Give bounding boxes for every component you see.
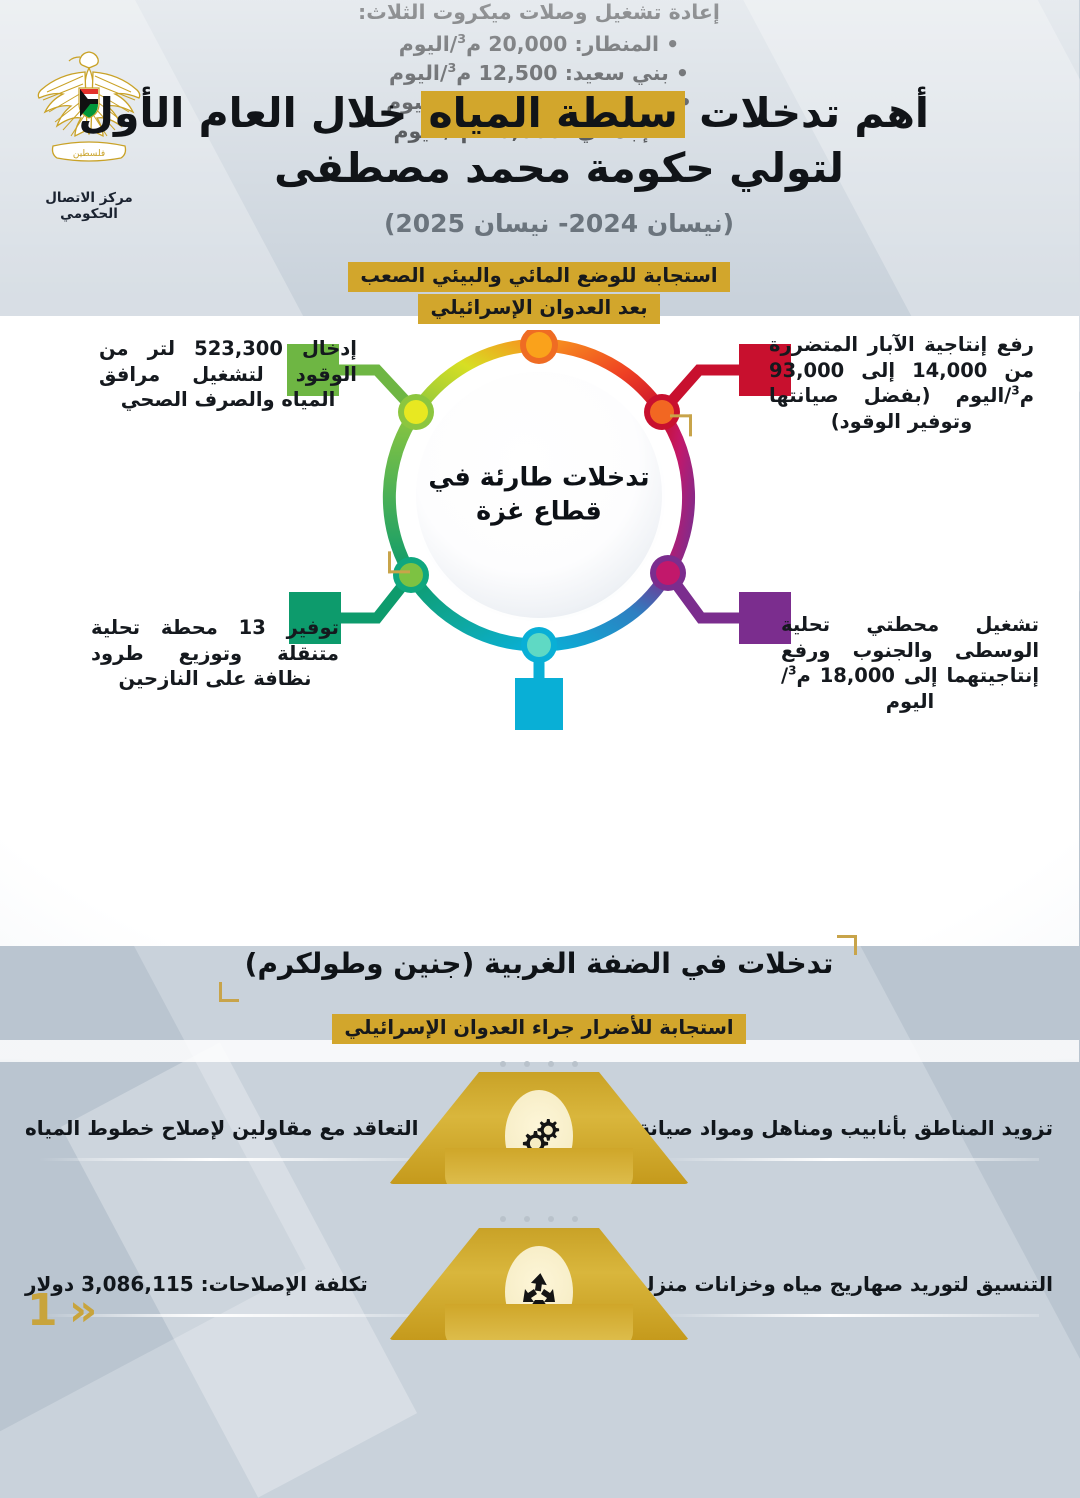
bracket-bottom-left-icon <box>389 552 411 574</box>
row1-left-label: التعاقد مع مقاولين لإصلاح خطوط المياه <box>26 1116 420 1140</box>
title-line-2: لتولي حكومة محمد مصطفى <box>190 141 930 196</box>
gaza-section-banner: استجابة للوضع المائي والبيئي الصعب بعد ا… <box>0 261 1080 325</box>
westbank-banner-text: استجابة للأضرار جراء العدوان الإسرائيلي <box>333 1014 746 1044</box>
callout-wells: رفع إنتاجية الآبار المتضررة من 14,000 إل… <box>770 332 1035 435</box>
svg-text:فلسطين: فلسطين <box>74 149 106 159</box>
title-post: خلال العام الأول <box>79 89 408 137</box>
westbank-row-1: تزويد المناطق بأنابيب ومناهل ومواد صيانة… <box>0 1072 1080 1194</box>
separator-dots <box>0 1208 1080 1227</box>
row1-right-label: تزويد المناطق بأنابيب ومناهل ومواد صيانة <box>639 1116 1054 1140</box>
bracket-bottom-left-icon <box>220 982 240 1002</box>
gaza-banner-line-2: بعد العدوان الإسرائيلي <box>419 294 660 324</box>
title-highlight: سلطة المياه <box>422 91 685 138</box>
row2-trapezoid <box>390 1228 690 1340</box>
callout-mobile-desal: توفير 13 محطة تحلية متنقلة وتوزيع طرود ن… <box>92 615 340 692</box>
westbank-section-banner: استجابة للأضرار جراء العدوان الإسرائيلي <box>0 1013 1080 1045</box>
row1-trapezoid <box>390 1072 690 1184</box>
date-range-subtitle: (نيسان 2024- نيسان 2025) <box>190 209 930 238</box>
center-line-2: قطاع غزة <box>425 495 655 529</box>
separator-dots <box>0 1053 1080 1072</box>
bracket-top-right-icon <box>671 414 693 436</box>
row2-right-label: التنسيق لتوريد صهاريج مياه وخزانات منزلي… <box>628 1272 1054 1296</box>
page-number: 1 » <box>28 1285 96 1336</box>
header: فلسطين مركز الاتصال الحكومي أهم تدخلات س… <box>0 0 1080 258</box>
callout-fuel: إدخال 523,300 لتر من الوقود لتشغيل مرافق… <box>100 336 358 413</box>
logo-caption: مركز الاتصال الحكومي <box>24 190 156 222</box>
page-title: أهم تدخلات سلطة المياه خلال العام الأول … <box>190 86 930 238</box>
bracket-top-right-icon <box>838 935 858 955</box>
westbank-heading-text: تدخلات في الضفة الغربية (جنين وطولكرم) <box>246 947 835 980</box>
center-line-1: تدخلات طارئة في <box>425 461 655 495</box>
wheel-center: تدخلات طارئة في قطاع غزة <box>375 330 705 660</box>
title-pre: أهم تدخلات <box>700 89 930 137</box>
callout-central-south-desal: تشغيل محطتي تحلية الوسطى والجنوب ورفع إن… <box>782 612 1040 715</box>
title-line-1: أهم تدخلات سلطة المياه خلال العام الأول <box>190 86 930 141</box>
wheel-center-label: تدخلات طارئة في قطاع غزة <box>425 461 655 528</box>
westbank-heading: تدخلات في الضفة الغربية (جنين وطولكرم) <box>0 947 1080 980</box>
connector-square-microt <box>516 678 564 730</box>
gaza-banner-line-1: استجابة للوضع المائي والبيئي الصعب <box>349 262 730 292</box>
westbank-row-2: التنسيق لتوريد صهاريج مياه وخزانات منزلي… <box>0 1228 1080 1350</box>
